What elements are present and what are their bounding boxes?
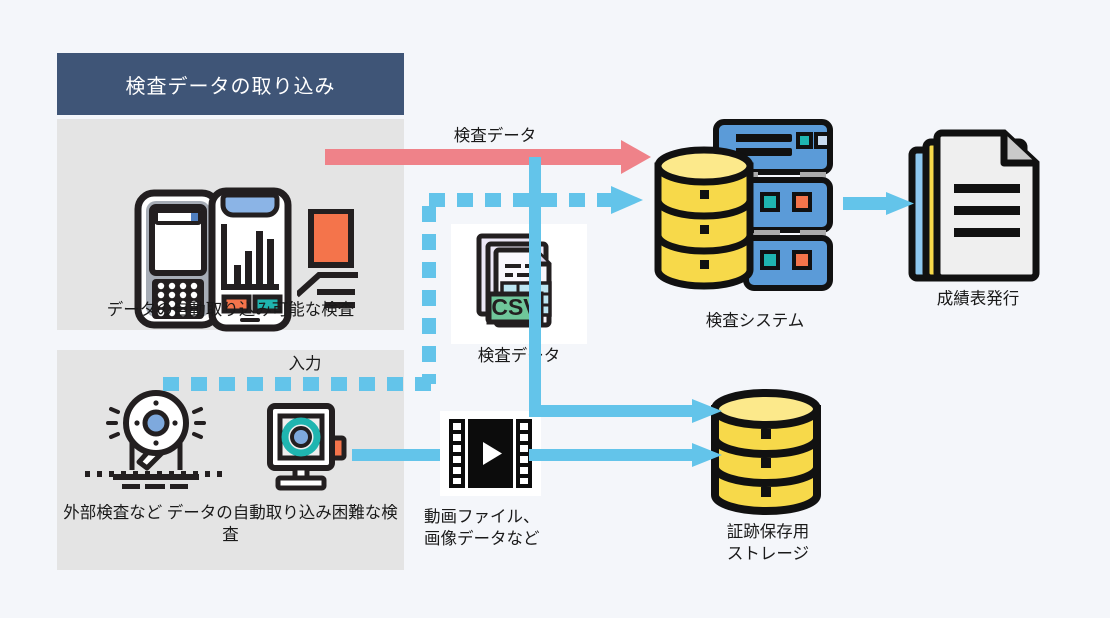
edge-video-to-storage xyxy=(529,443,722,467)
edge-system-to-report xyxy=(843,192,914,215)
edge-label-inspection-data: 検査データ xyxy=(410,125,580,147)
edge-camera-to-video xyxy=(352,449,440,461)
edge-label-manual-input: 入力 xyxy=(255,353,355,375)
arrows-layer xyxy=(0,0,1110,618)
diagram-canvas: 検査データの取り込み xyxy=(0,0,1110,618)
